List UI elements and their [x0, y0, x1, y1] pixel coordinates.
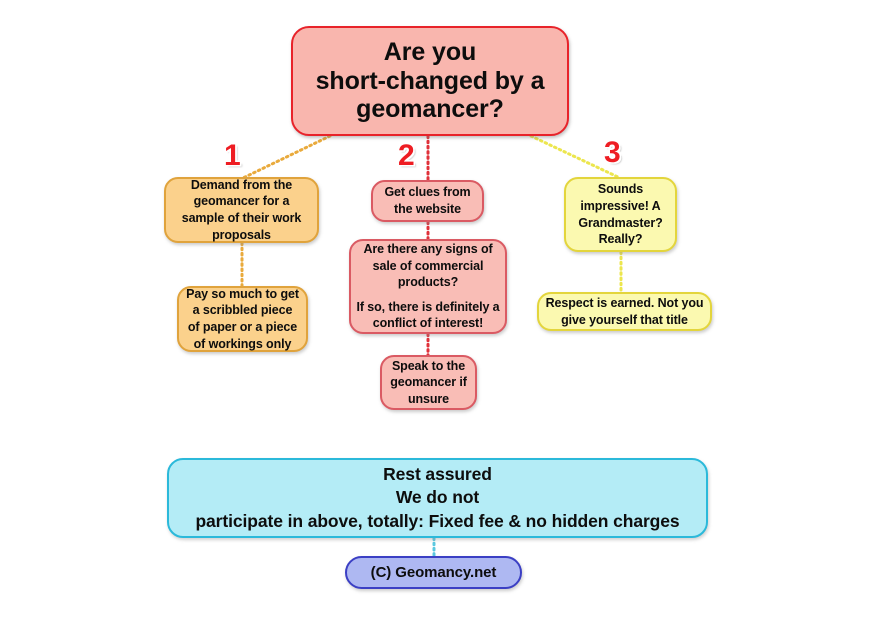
- connector-title-to-branch1: [243, 136, 330, 178]
- branch2-step2-line-3: products?: [398, 274, 458, 291]
- branch2-step3-line-3: unsure: [408, 391, 449, 408]
- copyright-badge[interactable]: (C) Geomancy.net: [345, 556, 522, 589]
- rest-assured-line-3: participate in above, totally: Fixed fee…: [195, 510, 679, 533]
- branch1-step1-line-3: sample of their work: [182, 210, 302, 227]
- branch3-step2-line-2: give yourself that title: [561, 312, 688, 329]
- branch3-step1-line-1: Sounds: [598, 181, 643, 198]
- branch2-step1-line-1: Get clues from: [384, 184, 470, 201]
- branch-number-3: 3: [604, 138, 621, 168]
- branch2-step2-line-5: If so, there is definitely a: [356, 299, 499, 316]
- branch-number-1: 1: [224, 141, 241, 171]
- main-question-line-1: Are you: [384, 38, 476, 67]
- branch2-step2-line-2: sale of commercial: [373, 258, 484, 275]
- rest-assured-line-1: Rest assured: [383, 463, 492, 486]
- branch1-step1-line-4: proposals: [212, 227, 271, 244]
- branch3-step2-box[interactable]: Respect is earned. Not you give yourself…: [537, 292, 712, 331]
- branch2-step3-line-2: geomancer if: [390, 374, 467, 391]
- main-question-line-3: geomancer?: [356, 95, 504, 124]
- branch3-step1-line-3: Grandmaster?: [578, 215, 662, 232]
- branch2-step2-box[interactable]: Are there any signs of sale of commercia…: [349, 239, 507, 334]
- branch1-step2-line-4: of workings only: [194, 336, 292, 353]
- branch1-step2-line-3: of paper or a piece: [188, 319, 297, 336]
- branch2-step2-line-6: conflict of interest!: [373, 315, 483, 332]
- branch2-step1-line-2: the website: [394, 201, 461, 218]
- branch2-step3-box[interactable]: Speak to the geomancer if unsure: [380, 355, 477, 410]
- rest-assured-line-2: We do not: [396, 486, 479, 509]
- copyright-label: (C) Geomancy.net: [371, 564, 497, 582]
- rest-assured-box[interactable]: Rest assured We do not participate in ab…: [167, 458, 708, 538]
- main-question-line-2: short-changed by a: [316, 67, 545, 96]
- branch3-step1-box[interactable]: Sounds impressive! A Grandmaster? Really…: [564, 177, 677, 252]
- branch3-step2-line-1: Respect is earned. Not you: [546, 295, 704, 312]
- branch2-step3-line-1: Speak to the: [392, 358, 465, 375]
- branch1-step2-line-1: Pay so much to get: [186, 286, 299, 303]
- branch2-step2-line-1: Are there any signs of: [363, 241, 492, 258]
- branch3-step1-line-4: Really?: [599, 231, 643, 248]
- main-question-box[interactable]: Are you short-changed by a geomancer?: [291, 26, 569, 136]
- branch1-step1-line-1: Demand from the: [191, 177, 292, 194]
- branch3-step1-line-2: impressive! A: [580, 198, 660, 215]
- branch-number-2: 2: [398, 141, 415, 171]
- branch1-step2-box[interactable]: Pay so much to get a scribbled piece of …: [177, 286, 308, 352]
- branch2-step1-box[interactable]: Get clues from the website: [371, 180, 484, 222]
- branch1-step1-line-2: geomancer for a: [194, 193, 290, 210]
- diagram-canvas: Are you short-changed by a geomancer? 1 …: [0, 0, 877, 620]
- branch1-step1-box[interactable]: Demand from the geomancer for a sample o…: [164, 177, 319, 243]
- branch1-step2-line-2: a scribbled piece: [193, 302, 293, 319]
